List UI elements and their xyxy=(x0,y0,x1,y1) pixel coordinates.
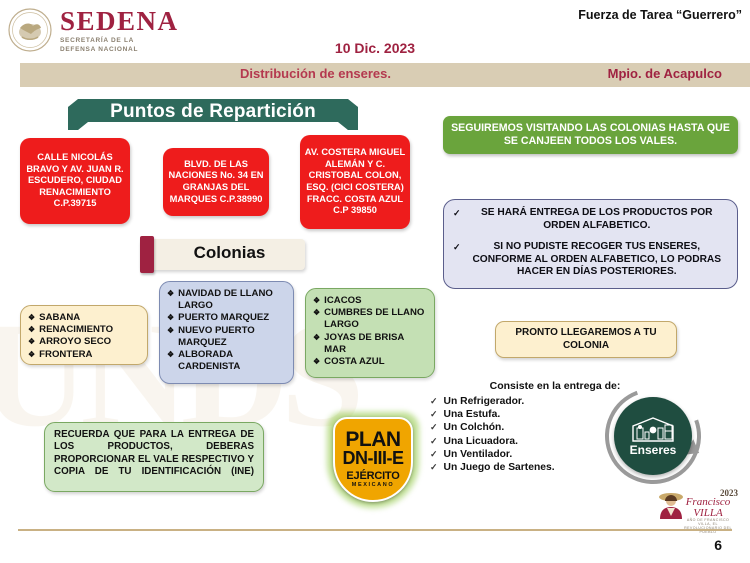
item-label: Un Ventilador. xyxy=(444,448,513,461)
bullet-icon: ❖ xyxy=(28,324,35,336)
list-item: ❖ALBORADA CARDENISTA xyxy=(167,349,286,373)
bullet-icon: ❖ xyxy=(167,312,174,324)
rule-item: ✓ SI NO PUDISTE RECOGER TUS ENSERES, CON… xyxy=(453,241,728,279)
bullet-icon: ❖ xyxy=(167,288,174,312)
distribution-point-card: CALLE NICOLÁS BRAVO Y AV. JUAN R. ESCUDE… xyxy=(20,138,130,224)
colonia-name: SABANA xyxy=(39,312,140,324)
section-banner-label: Puntos de Repartición xyxy=(68,101,358,123)
enseres-badge: Enseres xyxy=(605,388,701,484)
rules-box: ✓ SE HARÁ ENTREGA DE LOS PRODUCTOS POR O… xyxy=(443,199,738,289)
green-notice-box: SEGUIREMOS VISITANDO LAS COLONIAS HASTA … xyxy=(443,116,738,154)
colonia-name: ALBORADA CARDENISTA xyxy=(178,349,286,373)
colonia-name: COSTA AZUL xyxy=(324,356,427,368)
item-label: Un Colchón. xyxy=(444,421,505,434)
colonia-name: NUEVO PUERTO MARQUEZ xyxy=(178,325,286,349)
colonias-header-label: Colonias xyxy=(154,243,305,263)
enseres-circle: Enseres xyxy=(614,397,692,475)
list-item: ❖NAVIDAD DE LLANO LARGO xyxy=(167,288,286,312)
colonia-name: FRONTERA xyxy=(39,349,140,361)
appliances-house-icon xyxy=(631,416,675,442)
bullet-icon: ❖ xyxy=(28,336,35,348)
list-item: ❖PUERTO MARQUEZ xyxy=(167,312,286,324)
colonia-name: NAVIDAD DE LLANO LARGO xyxy=(178,288,286,312)
bullet-icon: ❖ xyxy=(167,349,174,373)
logo-line-3: EJÉRCITO xyxy=(346,470,399,482)
check-icon: ✓ xyxy=(430,408,438,421)
band-center-title: Distribución de enseres. xyxy=(240,66,391,81)
list-item: ❖FRONTERA xyxy=(28,349,140,361)
list-item: ❖ARROYO SECO xyxy=(28,336,140,348)
org-name: SEDENA xyxy=(60,6,179,36)
check-icon: ✓ xyxy=(430,448,438,461)
footer-divider xyxy=(18,529,732,531)
check-icon: ✓ xyxy=(430,461,438,474)
bullet-icon: ❖ xyxy=(313,356,320,368)
plan-dn3e-logo: PLAN DN-III-E EJÉRCITO MEXICANO xyxy=(327,412,419,508)
colonias-group: ❖NAVIDAD DE LLANO LARGO ❖PUERTO MARQUEZ … xyxy=(159,281,294,384)
colonias-group: ❖ICACOS ❖CUMBRES DE LLANO LARGO ❖JOYAS D… xyxy=(305,288,435,378)
page-number: 6 xyxy=(714,537,722,553)
rule-text: SI NO PUDISTE RECOGER TUS ENSERES, CONFO… xyxy=(466,241,728,279)
list-item: ❖NUEVO PUERTO MARQUEZ xyxy=(167,325,286,349)
check-icon: ✓ xyxy=(430,395,438,408)
item-label: Un Refrigerador. xyxy=(444,395,525,408)
item-label: Una Estufa. xyxy=(444,408,501,421)
rule-item: ✓ SE HARÁ ENTREGA DE LOS PRODUCTOS POR O… xyxy=(453,207,728,232)
colonia-name: PUERTO MARQUEZ xyxy=(178,312,286,324)
list-item: ❖RENACIMIENTO xyxy=(28,324,140,336)
distribution-point-card: AV. COSTERA MIGUEL ALEMÁN Y C. CRISTOBAL… xyxy=(300,135,410,229)
enseres-label: Enseres xyxy=(630,443,677,457)
logo-line-4: MEXICANO xyxy=(352,482,394,489)
item-label: Una Licuadora. xyxy=(444,435,518,448)
check-icon: ✓ xyxy=(453,207,461,232)
commemorative-name: Francisco VILLA xyxy=(680,497,736,519)
list-item: ❖JOYAS DE BRISA MAR xyxy=(313,332,427,356)
bullet-icon: ❖ xyxy=(313,332,320,356)
bullet-icon: ❖ xyxy=(313,307,320,331)
list-item: ❖SABANA xyxy=(28,312,140,324)
bullet-icon: ❖ xyxy=(28,349,35,361)
unit-name: Fuerza de Tarea “Guerrero” xyxy=(578,8,742,22)
logo-line-2: DN-III-E xyxy=(343,449,404,467)
colonia-name: CUMBRES DE LLANO LARGO xyxy=(324,307,427,331)
colonia-name: ICACOS xyxy=(324,295,427,307)
logo-shield: PLAN DN-III-E EJÉRCITO MEXICANO xyxy=(333,417,413,502)
colonia-name: ARROYO SECO xyxy=(39,336,140,348)
colonias-group: ❖SABANA ❖RENACIMIENTO ❖ARROYO SECO ❖FRON… xyxy=(20,305,148,365)
logo-line-1: PLAN xyxy=(345,430,400,449)
item-label: Un Juego de Sartenes. xyxy=(444,461,555,474)
list-item: ❖COSTA AZUL xyxy=(313,356,427,368)
slide-date: 10 Dic. 2023 xyxy=(0,40,750,56)
colonias-header-accent-bar xyxy=(140,236,154,273)
check-icon: ✓ xyxy=(430,435,438,448)
recuerda-box: RECUERDA QUE PARA LA ENTREGA DE LOS PROD… xyxy=(44,422,264,492)
bullet-icon: ❖ xyxy=(28,312,35,324)
commemorative-subtitle: AÑO DE FRANCISCO VILLA, EL REVOLUCIONARI… xyxy=(680,518,736,534)
slide: UNDS SEDENA SECRETARÍA DE LA DEFENSA NAC… xyxy=(0,0,750,563)
band-right-municipality: Mpio. de Acapulco xyxy=(608,66,722,81)
check-icon: ✓ xyxy=(453,241,461,279)
colonia-name: RENACIMIENTO xyxy=(39,324,140,336)
colonia-name: JOYAS DE BRISA MAR xyxy=(324,332,427,356)
bullet-icon: ❖ xyxy=(313,295,320,307)
pronto-notice-box: PRONTO LLEGAREMOS A TU COLONIA xyxy=(495,321,677,358)
check-icon: ✓ xyxy=(430,421,438,434)
list-item: ❖CUMBRES DE LLANO LARGO xyxy=(313,307,427,331)
rule-text: SE HARÁ ENTREGA DE LOS PRODUCTOS POR ORD… xyxy=(466,207,728,232)
bullet-icon: ❖ xyxy=(167,325,174,349)
list-item: ❖ICACOS xyxy=(313,295,427,307)
distribution-point-card: BLVD. DE LAS NACIONES No. 34 EN GRANJAS … xyxy=(163,148,269,216)
